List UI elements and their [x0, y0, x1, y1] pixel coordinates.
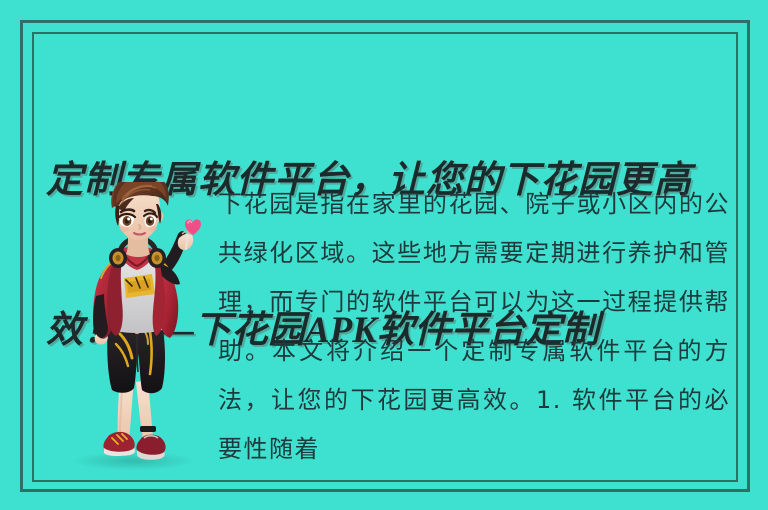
poster-body-text: 下花园是指在家里的花园、院子或小区内的公共绿化区域。这些地方需要定期进行养护和管…: [218, 180, 730, 474]
tshirt-graphic: [124, 274, 155, 298]
character-sneakers: [103, 426, 165, 460]
anime-boy-character-illustration: [60, 182, 220, 478]
heart-lollipop-icon: [185, 220, 201, 251]
poster-canvas: 定制专属软件平台，让您的下花园更高 效！——下花园APK软件平台定制: [0, 0, 768, 510]
character-head: [111, 182, 169, 240]
